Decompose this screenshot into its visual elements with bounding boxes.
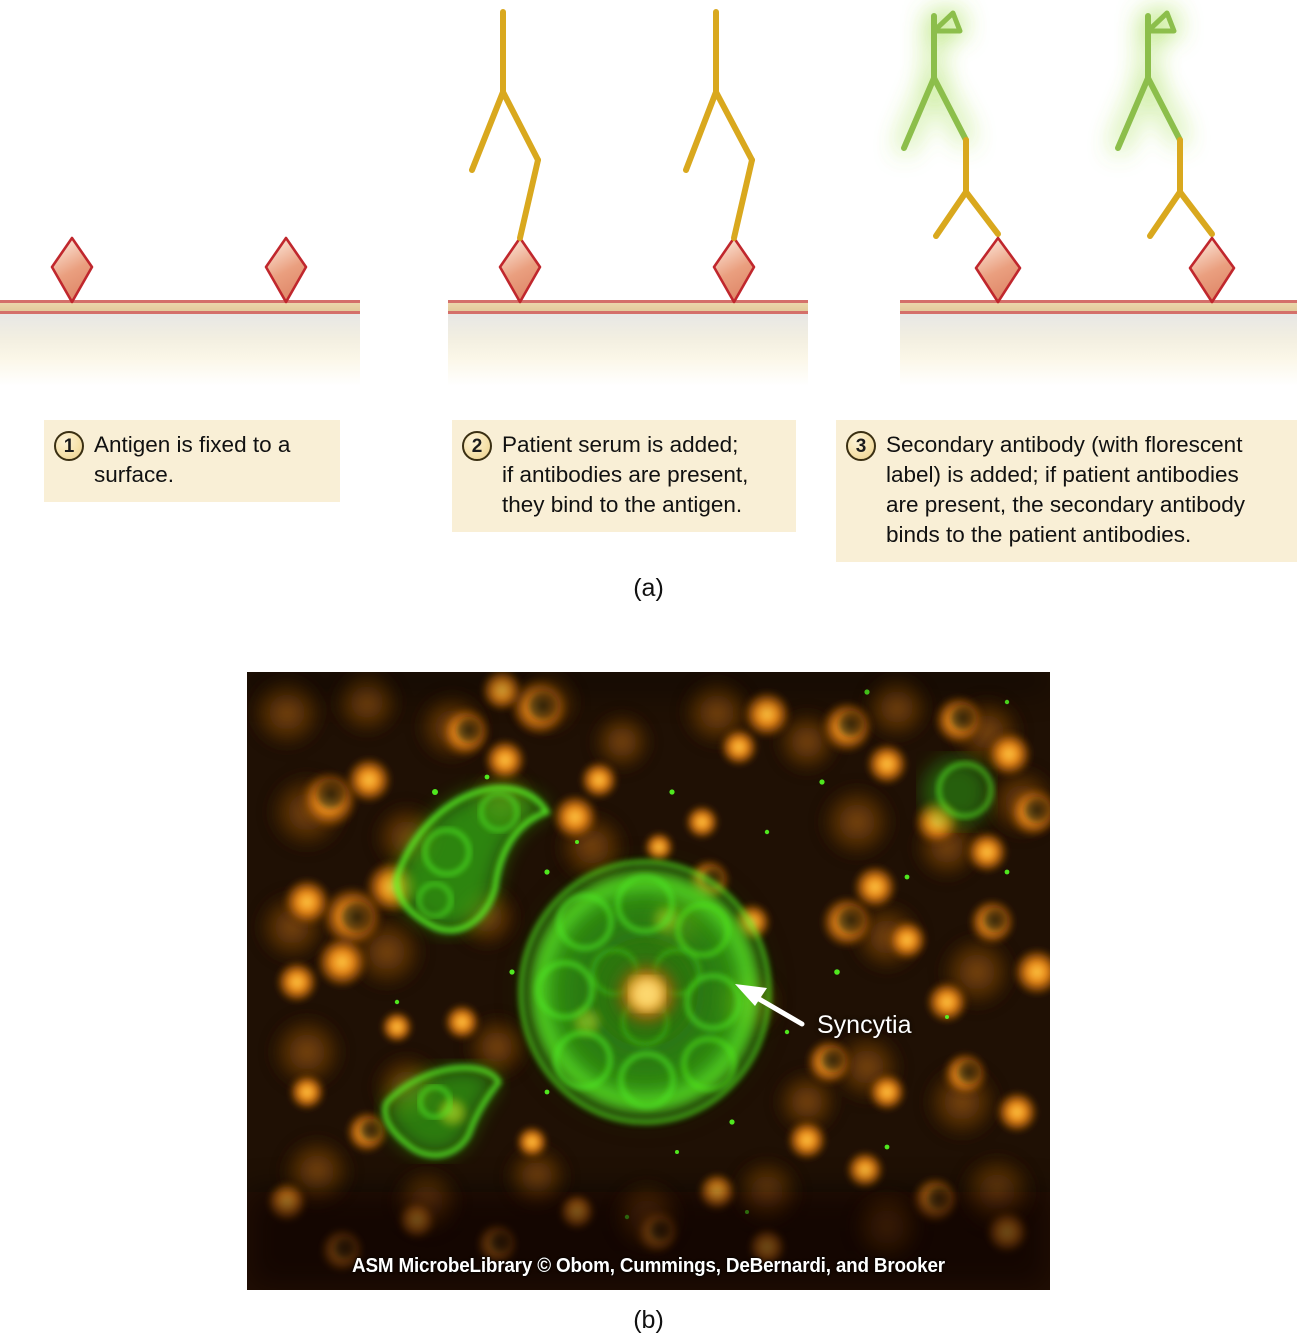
step-number-badge: 1 [54,431,84,461]
panel-1-graphics [0,0,360,320]
antigen-diamond [266,238,306,302]
antigen-diamond [714,238,754,302]
step-text: Antigen is fixed to a surface. [94,430,290,490]
substrate-shadow-1 [0,314,360,386]
antigen-diamond [1190,238,1234,302]
syncytium-right-edge [923,758,991,826]
immunofluorescence-micrograph [247,672,1050,1290]
panel-3-graphics [900,0,1297,320]
step-text: Secondary antibody (with florescent labe… [886,430,1245,550]
panel-2-graphics [448,0,808,320]
antigen-diamond [52,238,92,302]
patient-antibody [936,140,998,236]
fluorescent-label-flag [934,13,960,31]
secondary-antibody [904,13,966,148]
step-callout-1: 1 Antigen is fixed to a surface. [44,420,340,502]
figure-part-a: 1 Antigen is fixed to a surface. 2 Patie… [0,0,1297,620]
patient-antibody [1150,140,1212,236]
antibody-antigen-link [520,160,538,238]
antigen-diamond [500,238,540,302]
substrate-shadow-2 [448,314,808,386]
step-text: Patient serum is added; if antibodies ar… [502,430,748,520]
part-b-letter: (b) [0,1306,1297,1335]
step-callout-3: 3 Secondary antibody (with florescent la… [836,420,1297,562]
patient-antibody [472,12,538,170]
step-callout-2: 2 Patient serum is added; if antibodies … [452,420,796,532]
figure-part-b-micrograph: Syncytia ASM MicrobeLibrary © Obom, Cumm… [247,672,1050,1290]
fluorescent-label-flag [1148,13,1174,31]
step-number-badge: 2 [462,431,492,461]
syncytia-annotation-label: Syncytia [817,1011,911,1040]
antigen-diamond [976,238,1020,302]
secondary-antibody [1118,13,1180,148]
syncytium-large [515,857,775,1127]
substrate-shadow-3 [900,314,1297,386]
part-a-letter: (a) [0,574,1297,603]
antibody-antigen-link [734,160,752,238]
patient-antibody [686,12,752,170]
step-number-badge: 3 [846,431,876,461]
